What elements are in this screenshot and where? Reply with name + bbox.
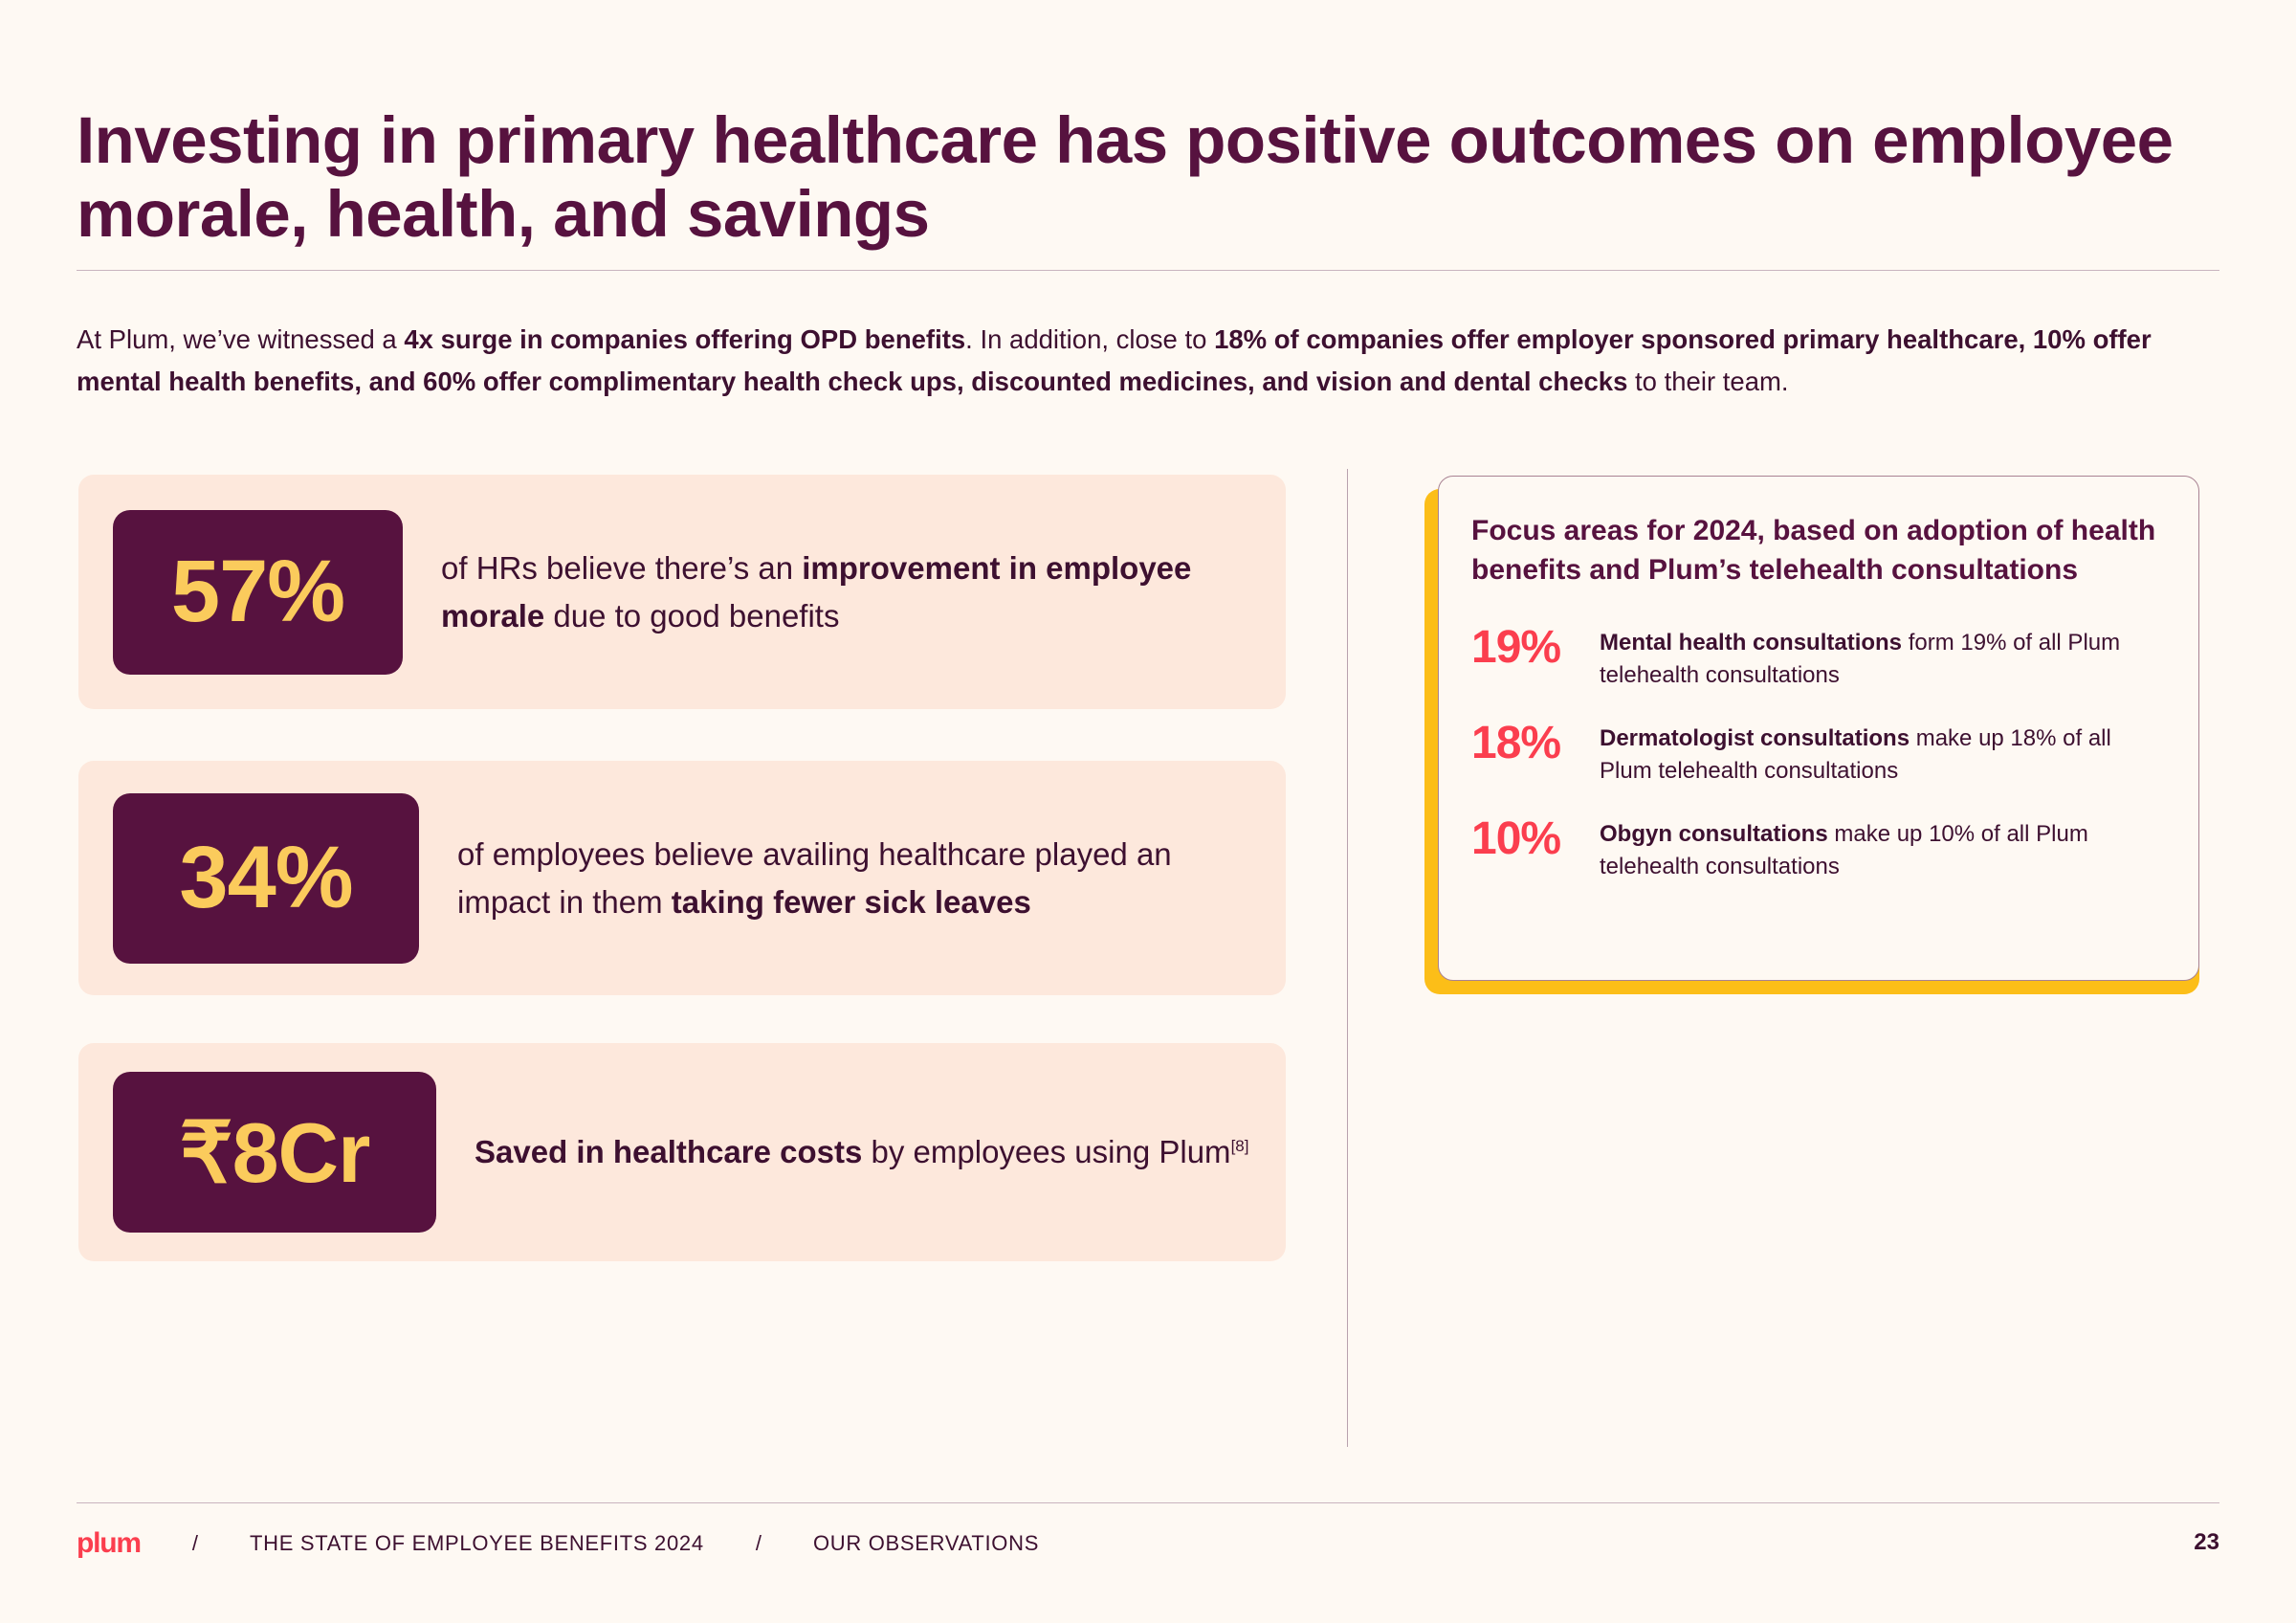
page-title: Investing in primary healthcare has posi… — [77, 103, 2229, 252]
title-divider — [77, 270, 2219, 271]
plum-logo: plum — [77, 1527, 141, 1560]
stat-value-badge: 34% — [113, 793, 419, 964]
list-item: 19% Mental health consultations form 19%… — [1471, 625, 2166, 692]
intro-text-3: to their team. — [1627, 367, 1788, 396]
focus-items-list: 19% Mental health consultations form 19%… — [1471, 625, 2166, 883]
focus-areas-panel: Focus areas for 2024, based on adoption … — [1424, 476, 2199, 981]
focus-percent: 19% — [1471, 625, 1600, 671]
focus-description: Dermatologist consultations make up 18% … — [1600, 721, 2166, 788]
stat-text-bold: taking fewer sick leaves — [672, 884, 1031, 920]
footer-report-name: THE STATE OF EMPLOYEE BENEFITS 2024 — [250, 1531, 704, 1556]
stat-card: 57% of HRs believe there’s an improvemen… — [78, 475, 1286, 709]
focus-percent: 10% — [1471, 816, 1600, 862]
footer-separator: / — [756, 1531, 762, 1556]
footer-separator: / — [192, 1531, 198, 1556]
intro-bold-1: 4x surge in companies offering OPD benef… — [404, 324, 965, 354]
footnote-marker: [8] — [1231, 1137, 1249, 1155]
stat-description: of HRs believe there’s an improvement in… — [441, 545, 1286, 639]
focus-description: Obgyn consultations make up 10% of all P… — [1600, 816, 2166, 883]
focus-desc-bold: Obgyn consultations — [1600, 821, 1828, 847]
panel-title: Focus areas for 2024, based on adoption … — [1471, 511, 2166, 590]
panel-body: Focus areas for 2024, based on adoption … — [1438, 476, 2199, 981]
stat-text-bold: Saved in healthcare costs — [475, 1134, 862, 1169]
focus-desc-bold: Mental health consultations — [1600, 630, 1902, 656]
list-item: 18% Dermatologist consultations make up … — [1471, 721, 2166, 788]
intro-paragraph: At Plum, we’ve witnessed a 4x surge in c… — [77, 319, 2205, 404]
footer: plum / THE STATE OF EMPLOYEE BENEFITS 20… — [77, 1527, 2219, 1560]
intro-text-1: At Plum, we’ve witnessed a — [77, 324, 404, 354]
focus-percent: 18% — [1471, 721, 1600, 767]
footer-divider — [77, 1502, 2219, 1503]
stat-card: 34% of employees believe availing health… — [78, 761, 1286, 995]
focus-desc-bold: Dermatologist consultations — [1600, 725, 1910, 751]
page-number: 23 — [2194, 1529, 2219, 1556]
stat-text-post: due to good benefits — [544, 598, 839, 634]
stat-value-badge: 57% — [113, 510, 403, 675]
stat-description: Saved in healthcare costs by employees u… — [475, 1128, 1277, 1176]
footer-section-name: OUR OBSERVATIONS — [813, 1531, 1039, 1556]
stat-description: of employees believe availing healthcare… — [457, 831, 1286, 925]
column-divider — [1347, 469, 1348, 1447]
stat-text-post: by employees using Plum — [862, 1134, 1230, 1169]
focus-description: Mental health consultations form 19% of … — [1600, 625, 2166, 692]
stat-text-pre: of HRs believe there’s an — [441, 550, 802, 586]
stat-value-badge: ₹8Cr — [113, 1072, 436, 1233]
slide-page: Investing in primary healthcare has posi… — [0, 0, 2296, 1623]
list-item: 10% Obgyn consultations make up 10% of a… — [1471, 816, 2166, 883]
stat-card: ₹8Cr Saved in healthcare costs by employ… — [78, 1043, 1286, 1261]
intro-text-2: . In addition, close to — [965, 324, 1214, 354]
